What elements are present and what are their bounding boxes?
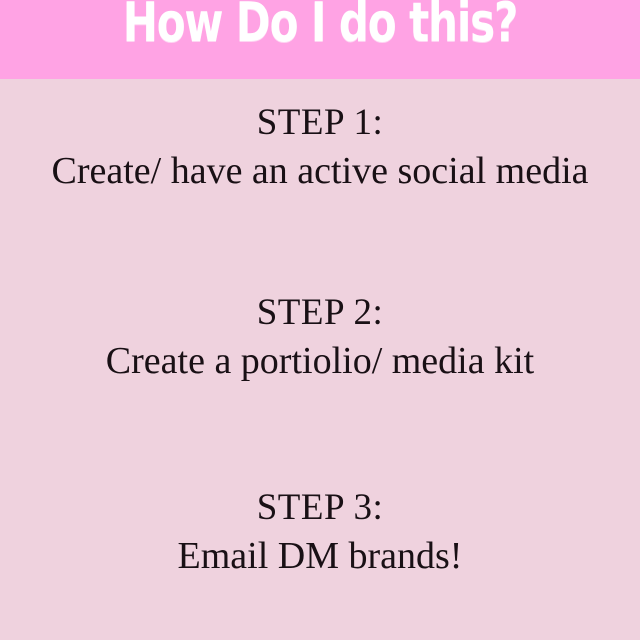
step-3-label: STEP 3: — [0, 485, 640, 530]
step-2-label: STEP 2: — [0, 290, 640, 335]
step-1-text: Create/ have an active social media — [0, 145, 640, 197]
infographic-poster: How Do I do this? STEP 1: Create/ have a… — [0, 0, 640, 640]
step-1-label: STEP 1: — [0, 100, 640, 145]
step-item-3: STEP 3: Email DM brands! — [0, 485, 640, 582]
page-title: How Do I do this? — [70, 0, 569, 52]
step-item-2: STEP 2: Create a portiolio/ media kit — [0, 290, 640, 387]
step-3-text: Email DM brands! — [0, 530, 640, 582]
steps-list: STEP 1: Create/ have an active social me… — [0, 79, 640, 640]
header-banner: How Do I do this? — [0, 0, 640, 79]
step-item-1: STEP 1: Create/ have an active social me… — [0, 100, 640, 197]
step-2-text: Create a portiolio/ media kit — [0, 335, 640, 387]
